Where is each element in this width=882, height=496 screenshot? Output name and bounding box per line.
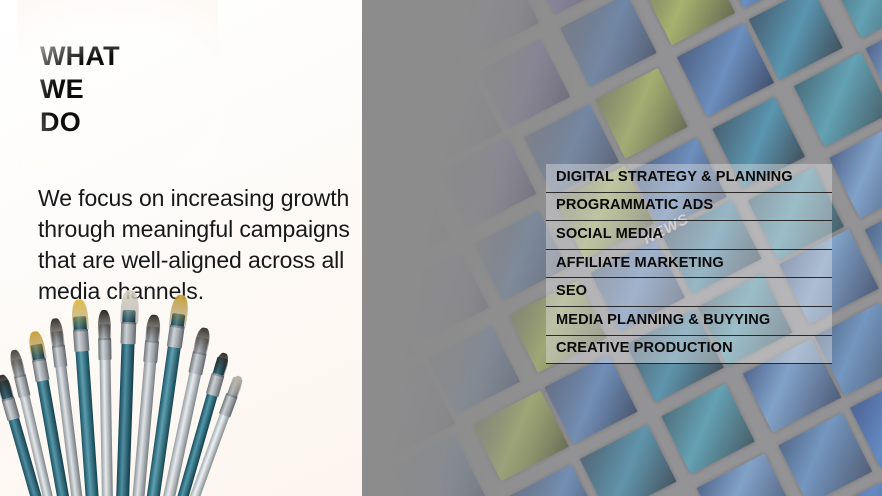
service-list-item-label: SEO [556, 283, 587, 299]
service-list-item-label: DIGITAL STRATEGY & PLANNING [556, 169, 793, 185]
service-list-item-label: CREATIVE PRODUCTION [556, 340, 733, 356]
right-image-panel: NEWSNEWS DIGITAL STRATEGY & PLANNINGPROG… [362, 0, 882, 496]
screen-tile [560, 0, 657, 87]
service-list-item[interactable]: CREATIVE PRODUCTION [546, 336, 832, 365]
body-paragraph: We focus on increasing growth through me… [38, 183, 360, 307]
service-list-item[interactable]: PROGRAMMATIC ADS [546, 193, 832, 222]
title-line-2: WE [40, 73, 120, 106]
screen-tile [362, 182, 450, 271]
service-list-item[interactable]: MEDIA PLANNING & BUYYING [546, 307, 832, 336]
screen-tile [830, 0, 882, 38]
page-title: WHAT WE DO [40, 40, 120, 139]
screen-tile [794, 52, 882, 147]
screen-tile [580, 425, 677, 496]
service-list-item-label: PROGRAMMATIC ADS [556, 197, 713, 213]
service-list-item[interactable]: SEO [546, 278, 832, 307]
screen-tile [371, 5, 462, 94]
title-line-1: WHAT [40, 40, 120, 73]
service-list-item[interactable]: DIGITAL STRATEGY & PLANNING [546, 164, 832, 193]
paintbrush [99, 324, 113, 496]
slide-canvas: WHAT WE DO We focus on increasing growth… [0, 0, 882, 496]
service-list: DIGITAL STRATEGY & PLANNINGPROGRAMMATIC … [546, 164, 832, 364]
service-list-item-label: AFFILIATE MARKETING [556, 255, 724, 271]
screen-tile [362, 108, 419, 200]
left-content-panel: WHAT WE DO We focus on increasing growth… [0, 0, 362, 496]
service-list-item[interactable]: AFFILIATE MARKETING [546, 250, 832, 279]
service-list-item-label: SOCIAL MEDIA [556, 226, 663, 242]
paintbrush [116, 310, 136, 496]
paintbrush-photo [18, 328, 218, 496]
service-list-item[interactable]: SOCIAL MEDIA [546, 221, 832, 250]
screen-tile [661, 384, 755, 475]
title-line-3: DO [40, 106, 120, 139]
service-list-item-label: MEDIA PLANNING & BUYYING [556, 312, 770, 328]
screen-tile [392, 252, 489, 343]
